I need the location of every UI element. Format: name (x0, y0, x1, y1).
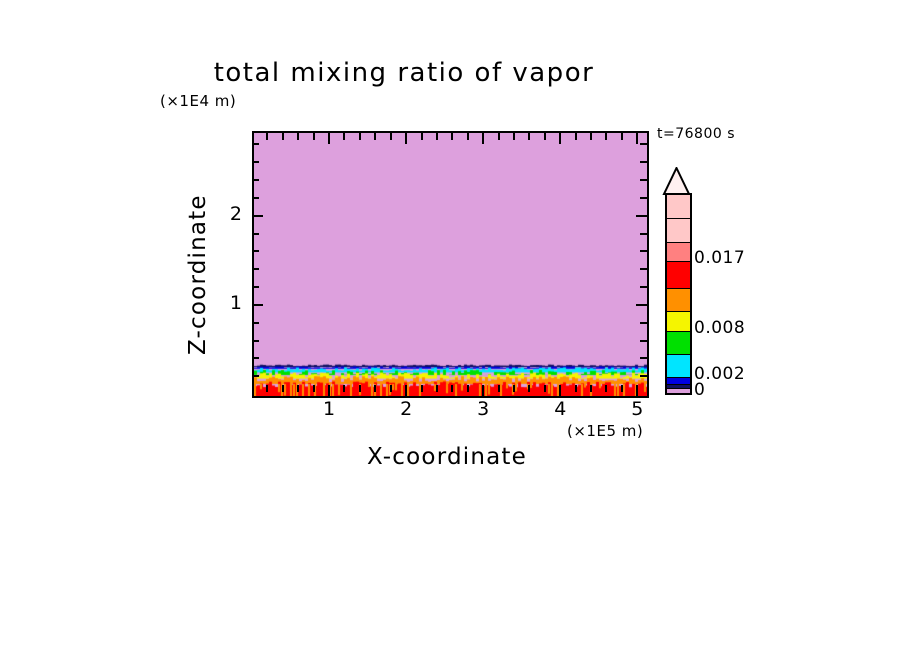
x-axis-top-major-tick (636, 133, 638, 144)
y-axis-units-label: (×1E4 m) (160, 92, 236, 110)
y-axis-minor-tick (252, 233, 259, 235)
x-axis-minor-tick (498, 385, 500, 392)
y-axis-minor-tick (252, 286, 259, 288)
y-axis-right-minor-tick (640, 286, 647, 288)
y-axis-minor-tick (252, 357, 259, 359)
x-axis-minor-tick (266, 385, 268, 392)
y-axis-right-minor-tick (640, 179, 647, 181)
x-axis-top-minor-tick (297, 133, 299, 140)
y-axis-minor-tick (252, 322, 259, 324)
plot-area[interactable] (252, 131, 649, 398)
x-axis-top-minor-tick (513, 133, 515, 140)
x-axis-units-label: (×1E5 m) (567, 422, 643, 440)
y-axis-right-minor-tick (640, 250, 647, 252)
time-annotation: t=76800 s (657, 126, 735, 142)
x-axis-top-minor-tick (374, 133, 376, 140)
x-axis-minor-tick (575, 385, 577, 392)
x-axis-top-minor-tick (390, 133, 392, 140)
x-axis-minor-tick (590, 385, 592, 392)
x-axis-minor-tick (421, 385, 423, 392)
x-axis-top-major-tick (482, 133, 484, 144)
x-tick-label: 1 (314, 398, 344, 420)
x-tick-label: 4 (545, 398, 575, 420)
y-axis-right-minor-tick (640, 197, 647, 199)
y-axis-minor-tick (252, 143, 259, 145)
y-axis-minor-tick (252, 179, 259, 181)
y-axis-right-minor-tick (640, 268, 647, 270)
x-axis-top-minor-tick (528, 133, 530, 140)
y-axis-minor-tick (252, 161, 259, 163)
x-axis-major-tick (482, 385, 484, 396)
x-axis-minor-tick (544, 385, 546, 392)
y-axis-right-minor-tick (640, 357, 647, 359)
x-axis-minor-tick (621, 385, 623, 392)
y-axis-right-major-tick (636, 304, 647, 306)
x-axis-top-minor-tick (451, 133, 453, 140)
x-axis-top-minor-tick (590, 133, 592, 140)
x-axis-top-minor-tick (621, 133, 623, 140)
x-axis-top-minor-tick (498, 133, 500, 140)
colorbar-tick-label: 0.017 (694, 248, 745, 268)
x-axis-minor-tick (436, 385, 438, 392)
field-heatmap (254, 133, 647, 396)
x-axis-minor-tick (343, 385, 345, 392)
colorbar-band (667, 218, 690, 241)
x-axis-minor-tick (528, 385, 530, 392)
x-tick-label: 2 (391, 398, 421, 420)
x-axis-top-major-tick (559, 133, 561, 144)
colorbar-extend-arrow-icon (662, 167, 691, 195)
y-axis-minor-tick (252, 268, 259, 270)
x-axis-minor-tick (359, 385, 361, 392)
y-axis-right-minor-tick (640, 143, 647, 145)
x-axis-top-minor-tick (266, 133, 268, 140)
x-axis-title: X-coordinate (367, 444, 527, 470)
y-axis-right-minor-tick (640, 233, 647, 235)
y-axis-right-major-tick (636, 215, 647, 217)
x-tick-label: 5 (622, 398, 652, 420)
x-axis-minor-tick (390, 385, 392, 392)
x-axis-minor-tick (605, 385, 607, 392)
x-axis-top-minor-tick (421, 133, 423, 140)
y-axis-minor-tick (252, 375, 259, 377)
x-axis-major-tick (559, 385, 561, 396)
y-axis-minor-tick (252, 340, 259, 342)
colorbar-band (667, 261, 690, 288)
y-axis-right-minor-tick (640, 322, 647, 324)
y-axis-title: Z-coordinate (185, 194, 211, 355)
y-tick-label: 1 (216, 292, 242, 314)
x-axis-top-major-tick (405, 133, 407, 144)
colorbar-band (667, 195, 690, 218)
y-axis-minor-tick (252, 250, 259, 252)
x-axis-top-minor-tick (313, 133, 315, 140)
x-axis-minor-tick (282, 385, 284, 392)
x-axis-minor-tick (374, 385, 376, 392)
page-title: total mixing ratio of vapor (0, 58, 856, 88)
x-axis-minor-tick (513, 385, 515, 392)
x-axis-top-minor-tick (467, 133, 469, 140)
colorbar-band (667, 354, 690, 377)
y-axis-right-minor-tick (640, 161, 647, 163)
x-axis-top-major-tick (328, 133, 330, 144)
x-axis-top-minor-tick (575, 133, 577, 140)
colorbar-band (667, 331, 690, 354)
y-axis-right-minor-tick (640, 375, 647, 377)
x-axis-major-tick (636, 385, 638, 396)
x-axis-minor-tick (451, 385, 453, 392)
x-axis-top-minor-tick (436, 133, 438, 140)
colorbar-band (667, 288, 690, 311)
x-axis-top-minor-tick (343, 133, 345, 140)
x-axis-top-minor-tick (359, 133, 361, 140)
y-axis-right-minor-tick (640, 340, 647, 342)
x-axis-major-tick (328, 385, 330, 396)
colorbar-tick-label: 0.008 (694, 318, 745, 338)
colorbar-band (667, 388, 690, 393)
x-axis-minor-tick (313, 385, 315, 392)
x-axis-minor-tick (297, 385, 299, 392)
colorbar-band (667, 242, 690, 261)
x-axis-top-minor-tick (544, 133, 546, 140)
y-axis-major-tick (252, 304, 263, 306)
y-axis-major-tick (252, 215, 263, 217)
x-axis-top-minor-tick (605, 133, 607, 140)
colorbar[interactable] (665, 193, 692, 395)
x-axis-top-minor-tick (282, 133, 284, 140)
x-tick-label: 3 (468, 398, 498, 420)
x-axis-minor-tick (467, 385, 469, 392)
y-axis-minor-tick (252, 197, 259, 199)
colorbar-tick-label: 0 (694, 380, 705, 400)
y-tick-label: 2 (216, 203, 242, 225)
colorbar-band (667, 311, 690, 330)
x-axis-major-tick (405, 385, 407, 396)
